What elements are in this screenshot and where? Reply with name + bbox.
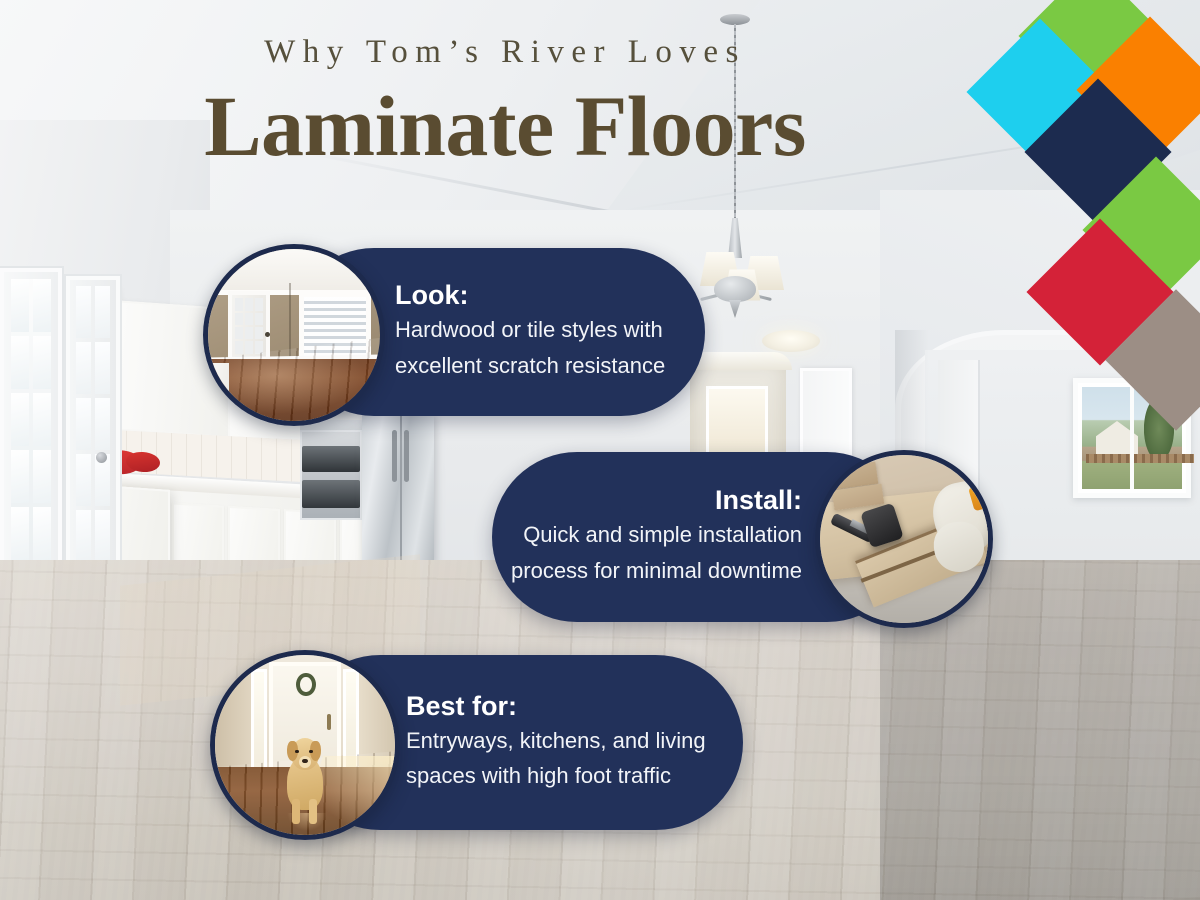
oven-window-upper <box>302 446 360 472</box>
card-install-line1: Quick and simple installation <box>511 517 802 553</box>
card-look-line1: Hardwood or tile styles with <box>395 312 665 348</box>
page-title: Laminate Floors <box>0 83 1010 171</box>
flush-mount-light <box>762 330 820 352</box>
card-best-for-heading: Best for: <box>406 691 706 723</box>
door-knob <box>96 452 107 463</box>
card-best-for-line1: Entryways, kitchens, and living <box>406 723 706 759</box>
title-block: Why Tom’s River Loves Laminate Floors <box>0 34 1010 171</box>
kicker-text: Why Tom’s River Loves <box>0 34 1010 71</box>
laminate-install-photo[interactable] <box>815 450 993 628</box>
card-look-heading: Look: <box>395 280 665 312</box>
card-best-for-line2: spaces with high foot traffic <box>406 758 706 794</box>
card-install-line2: process for minimal downtime <box>511 553 802 589</box>
poster-canvas: Why Tom’s River Loves Laminate Floors Lo… <box>0 0 1200 900</box>
fence <box>1086 454 1194 463</box>
card-install-heading: Install: <box>511 485 802 517</box>
dog-entryway-photo[interactable] <box>210 650 400 840</box>
card-look-text: Look: Hardwood or tile styles with excel… <box>395 280 665 383</box>
card-look-line2: excellent scratch resistance <box>395 348 665 384</box>
refrigerator-handle-right <box>404 430 409 482</box>
refrigerator-handle-left <box>392 430 397 482</box>
window-mullion <box>1130 387 1134 489</box>
back-room-window <box>706 386 768 458</box>
refrigerator <box>362 414 434 564</box>
oven-window-lower <box>302 480 360 508</box>
card-install-text: Install: Quick and simple installation p… <box>511 485 802 588</box>
refrigerator-door-split <box>400 414 402 564</box>
chandelier-body <box>714 276 756 302</box>
card-best-for-text: Best for: Entryways, kitchens, and livin… <box>406 691 706 794</box>
room-hardwood-photo[interactable] <box>203 244 385 426</box>
